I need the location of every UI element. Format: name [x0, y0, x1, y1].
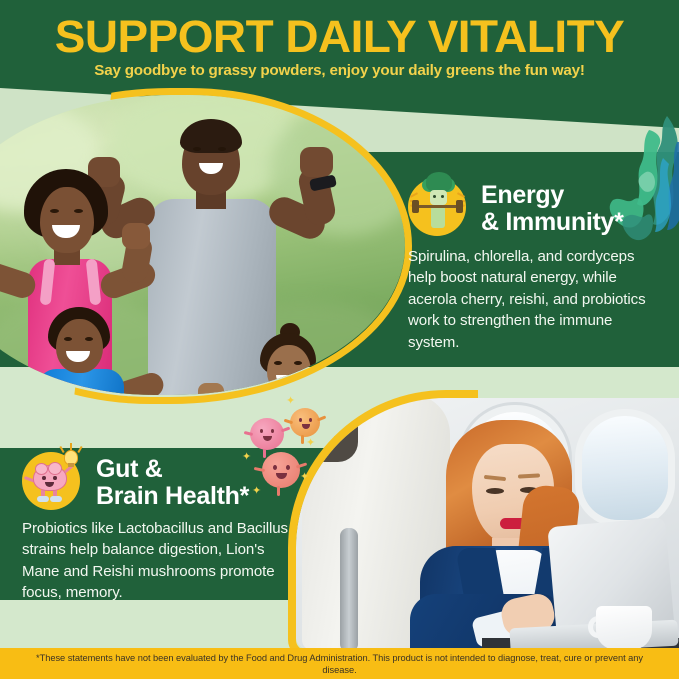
energy-card-title-line1: Energy [481, 182, 624, 209]
energy-card-title: Energy & Immunity* [481, 182, 624, 236]
probiotic-microbe-icon [250, 418, 284, 450]
footer-disclaimer-text: *These statements have not been evaluate… [30, 652, 650, 676]
family-flexing-photo [0, 95, 405, 395]
gut-card-body: Probiotics like Lactobacillus and Bacill… [22, 518, 300, 604]
infographic-canvas: SUPPORT DAILY VITALITY Say goodbye to gr… [0, 0, 679, 679]
header: SUPPORT DAILY VITALITY Say goodbye to gr… [0, 0, 679, 90]
sparkle-star-icon: ✦ [306, 438, 315, 449]
gut-card-title-line2: Brain Health* [96, 483, 249, 510]
probiotic-microbe-icon [262, 452, 300, 488]
footer-disclaimer-bar: *These statements have not been evaluate… [0, 648, 679, 679]
gut-card-title-line1: Gut & [96, 456, 249, 483]
energy-card-body: Spirulina, chlorella, and cordyceps help… [408, 246, 666, 353]
page-subtitle: Say goodbye to grassy powders, enjoy you… [0, 62, 679, 79]
broccoli-weightlifter-icon [408, 178, 466, 236]
brain-lightbulb-icon [22, 452, 80, 510]
probiotic-microbe-icon [290, 408, 320, 437]
page-title: SUPPORT DAILY VITALITY [0, 12, 679, 62]
gut-card-title: Gut & Brain Health* [96, 456, 249, 510]
sparkle-star-icon: ✦ [300, 472, 309, 483]
businesswoman-laptop-photo [296, 398, 679, 650]
sparkle-star-icon: ✦ [252, 486, 261, 497]
energy-card-title-line2: & Immunity* [481, 209, 624, 236]
sparkle-star-icon: ✦ [286, 396, 295, 407]
